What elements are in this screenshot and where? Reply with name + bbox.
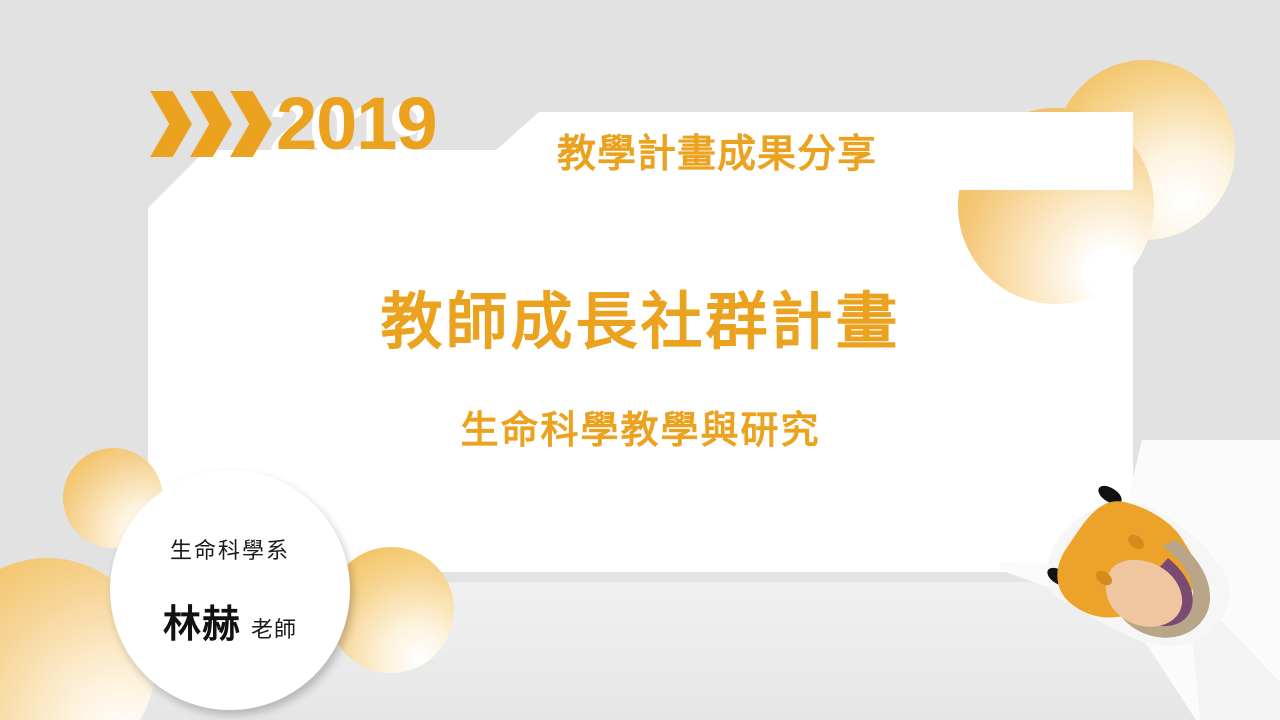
presenter-badge: 生命科學系 林赫 老師 <box>110 470 350 710</box>
presenter-role: 老師 <box>251 612 297 644</box>
presentation-slide: 2019 教學計畫成果分享 教師成長社群計畫 生命科學教學與研究 生命科學系 林… <box>0 0 1280 720</box>
page-subtitle: 生命科學教學與研究 <box>148 412 1133 450</box>
hand-holding-object-illustration <box>1000 440 1280 720</box>
presenter-name-row: 林赫 老師 <box>163 593 297 648</box>
chevron-right-icon <box>230 91 272 157</box>
year-label: 2019 <box>276 91 437 157</box>
header-ribbon: 教學計畫成果分享 <box>495 112 1133 190</box>
chevron-right-icon <box>150 91 192 157</box>
presenter-name: 林赫 <box>163 593 241 648</box>
header-label: 教學計畫成果分享 <box>557 123 877 179</box>
page-title: 教師成長社群計畫 <box>148 292 1133 354</box>
chevron-group <box>150 91 272 157</box>
chevron-right-icon <box>190 91 232 157</box>
year-block: 2019 <box>150 88 437 160</box>
presenter-department: 生命科學系 <box>170 533 290 565</box>
